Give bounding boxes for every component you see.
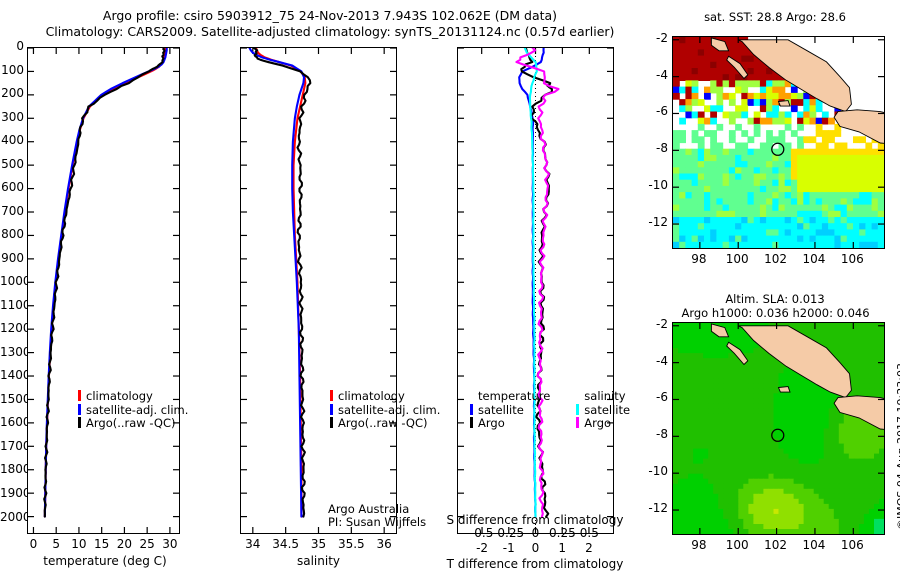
map-y-tick-label: -2: [640, 31, 668, 45]
temperature-difference-tick-label: 2: [569, 541, 609, 555]
depth-tick-label: 1700: [0, 439, 24, 453]
header-line-1: Argo profile: csiro 5903912_75 24-Nov-20…: [0, 8, 660, 23]
depth-tick-label: 200: [0, 86, 24, 100]
depth-axis-labels: 0100200300400500600700800900100011001200…: [0, 0, 26, 580]
map-y-tick-label: -6: [640, 104, 668, 118]
salinity-difference-tick-label: 0.5: [569, 526, 609, 540]
map-y-tick-label: -12: [640, 215, 668, 229]
temperature-difference-axis-label: T difference from climatology: [440, 557, 630, 571]
legend-label: satellite: [584, 403, 630, 417]
depth-tick-label: 600: [0, 180, 24, 194]
difference-legend-item: satellite: [470, 404, 550, 418]
depth-tick-label: 700: [0, 204, 24, 218]
temperature-legend-item: climatology: [78, 390, 188, 404]
sla-map-xtick-labels: 98100102104106: [650, 538, 900, 554]
legend-label: climatology: [86, 389, 153, 403]
depth-tick-label: 1600: [0, 415, 24, 429]
sla-map-title-line2: Argo h1000: 0.036 h2000: 0.046: [653, 306, 898, 320]
legend-color-swatch: [576, 404, 579, 415]
depth-tick-label: 1100: [0, 298, 24, 312]
imos-credit: ©IMOS 04-Aug-2017 19:23:03: [895, 363, 900, 530]
sst-map-xtick-labels: 98100102104106: [650, 252, 900, 268]
sst-map-title: sat. SST: 28.8 Argo: 28.6: [660, 10, 890, 24]
legend-label: climatology: [338, 389, 405, 403]
map-x-tick-label: 106: [832, 538, 872, 552]
legend-color-swatch: [330, 417, 333, 428]
depth-tick-label: 0: [0, 39, 24, 53]
map-x-tick-label: 102: [756, 538, 796, 552]
sst-map-ytick-labels: -2-4-6-8-10-12: [640, 0, 670, 280]
salinity-legend-item: satellite-adj. clim.: [330, 404, 440, 418]
difference-legend-item: satellite: [576, 404, 630, 418]
salinity-tick-label: 36: [364, 537, 404, 551]
temperature-panel: [27, 47, 180, 534]
depth-tick-label: 1500: [0, 392, 24, 406]
map-x-tick-label: 106: [832, 252, 872, 266]
sst-map: [672, 36, 885, 249]
map-y-tick-label: -2: [640, 317, 668, 331]
temperature-legend-item: Argo(..raw -QC): [78, 417, 188, 431]
map-x-tick-label: 104: [794, 538, 834, 552]
map-y-tick-label: -6: [640, 390, 668, 404]
map-x-tick-label: 104: [794, 252, 834, 266]
sst-map-area: [673, 37, 884, 248]
temperature-plot-area: [28, 48, 179, 533]
difference-plot-area: [458, 48, 613, 533]
salinity-legend: climatologysatellite-adj. clim.Argo(..ra…: [330, 390, 440, 431]
map-y-tick-label: -8: [640, 427, 668, 441]
salinity-panel: [240, 47, 397, 534]
difference-legend: temperaturesatelliteArgosalinitysatellit…: [470, 390, 630, 431]
temperature-difference-xtick-labels: -2-1012: [420, 541, 650, 557]
depth-tick-label: 900: [0, 251, 24, 265]
legend-color-swatch: [78, 390, 81, 401]
legend-color-swatch: [470, 417, 473, 428]
depth-tick-label: 1300: [0, 345, 24, 359]
salinity-plot-area: [241, 48, 396, 533]
salinity-legend-item: climatology: [330, 390, 440, 404]
depth-tick-label: 300: [0, 110, 24, 124]
sla-map-ytick-labels: -2-4-6-8-10-12: [640, 286, 670, 566]
legend-color-swatch: [470, 404, 473, 415]
sla-map: [672, 322, 885, 535]
depth-tick-label: 400: [0, 133, 24, 147]
difference-legend-group-title: salinity: [584, 390, 630, 404]
map-x-tick-label: 98: [679, 538, 719, 552]
map-x-tick-label: 100: [717, 252, 757, 266]
map-y-tick-label: -8: [640, 141, 668, 155]
map-x-tick-label: 98: [679, 252, 719, 266]
difference-legend-item: Argo: [576, 417, 630, 431]
legend-label: Argo(..raw -QC): [338, 416, 428, 430]
depth-tick-label: 2000: [0, 510, 24, 524]
difference-legend-group: salinitysatelliteArgo: [576, 390, 630, 431]
legend-label: satellite-adj. clim.: [86, 403, 188, 417]
map-y-tick-label: -12: [640, 501, 668, 515]
legend-color-swatch: [330, 390, 333, 401]
legend-label: Argo(..raw -QC): [86, 416, 176, 430]
depth-tick-label: 1200: [0, 321, 24, 335]
legend-label: satellite-adj. clim.: [338, 403, 440, 417]
legend-color-swatch: [576, 417, 579, 428]
temperature-legend-item: satellite-adj. clim.: [78, 404, 188, 418]
salinity-difference-xtick-labels: -0.5-0.2500.250.5: [420, 526, 650, 542]
salinity-difference-axis-label: S difference from climatology: [440, 513, 630, 527]
sla-map-area: [673, 323, 884, 534]
difference-legend-item: Argo: [470, 417, 550, 431]
map-y-tick-label: -4: [640, 68, 668, 82]
legend-label: Argo: [478, 416, 505, 430]
argo-pi-note: PI: Susan Wijffels: [328, 516, 426, 530]
salinity-xtick-labels: 3434.53535.536: [200, 537, 450, 553]
temperature-axis-label: temperature (deg C): [0, 554, 210, 568]
map-y-tick-label: -10: [640, 464, 668, 478]
depth-tick-label: 500: [0, 157, 24, 171]
legend-color-swatch: [78, 417, 81, 428]
sla-map-title-line1: Altim. SLA: 0.013: [660, 292, 890, 306]
legend-color-swatch: [78, 404, 81, 415]
depth-tick-label: 1900: [0, 486, 24, 500]
legend-color-swatch: [330, 404, 333, 415]
difference-legend-group-title: temperature: [478, 390, 550, 404]
difference-legend-group: temperaturesatelliteArgo: [470, 390, 550, 431]
header-line-2: Climatology: CARS2009. Satellite-adjuste…: [0, 24, 660, 39]
legend-label: satellite: [478, 403, 524, 417]
depth-tick-label: 1400: [0, 368, 24, 382]
difference-panel: [457, 47, 614, 534]
depth-tick-label: 1000: [0, 274, 24, 288]
map-y-tick-label: -4: [640, 354, 668, 368]
depth-tick-label: 100: [0, 63, 24, 77]
depth-tick-label: 1800: [0, 462, 24, 476]
temperature-legend: climatologysatellite-adj. clim.Argo(..ra…: [78, 390, 188, 431]
map-x-tick-label: 102: [756, 252, 796, 266]
legend-label: Argo: [584, 416, 611, 430]
map-x-tick-label: 100: [717, 538, 757, 552]
depth-tick-label: 800: [0, 227, 24, 241]
salinity-axis-label: salinity: [240, 554, 397, 568]
salinity-legend-item: Argo(..raw -QC): [330, 417, 440, 431]
map-y-tick-label: -10: [640, 178, 668, 192]
temperature-tick-label: 30: [150, 537, 190, 551]
